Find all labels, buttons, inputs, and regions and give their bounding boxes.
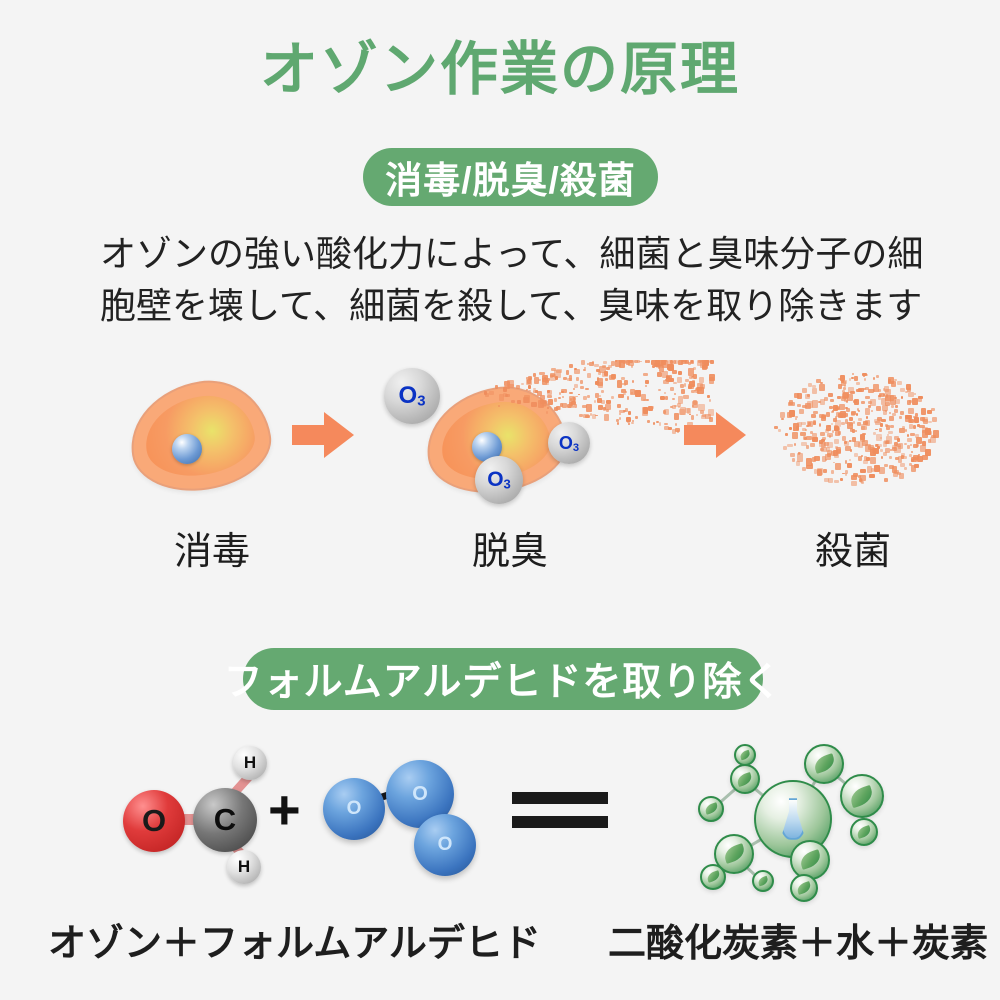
stage-sterilize: 殺菌 — [765, 360, 965, 570]
leaf-icon — [812, 754, 837, 775]
cluster-bubble-leaf — [850, 818, 878, 846]
cluster-bubble-leaf — [804, 744, 844, 784]
ozone-atom-left: O — [323, 778, 385, 840]
leaf-icon — [796, 881, 812, 895]
green-molecule-cluster-icon — [672, 722, 922, 907]
cluster-bubble-leaf — [752, 870, 774, 892]
leaf-icon — [706, 871, 721, 884]
cluster-bubble-leaf — [698, 796, 724, 822]
flask-icon — [780, 798, 805, 839]
body-line-2: 胞壁を壊して、細菌を殺して、臭味を取り除きます — [100, 280, 940, 332]
caption-reactants: オゾン＋フォルムアルデヒド — [48, 912, 541, 967]
arrow-stem — [292, 425, 328, 445]
leaf-icon — [722, 844, 747, 865]
formaldehyde-molecule-icon: O C H H — [115, 740, 280, 890]
arrow-head — [324, 412, 354, 458]
leaf-icon — [848, 784, 875, 807]
cluster-bubble-leaf — [734, 744, 756, 766]
plus-sign: + — [268, 782, 301, 838]
ozone-token-2: O3 — [475, 456, 523, 504]
leaf-icon — [704, 803, 719, 816]
atom-hydrogen-upper: H — [233, 746, 267, 780]
stage-label-sterilize: 殺菌 — [783, 520, 923, 575]
badge-1-label: 消毒/脱臭/殺菌 — [385, 150, 636, 204]
arrow-stem — [684, 425, 720, 445]
equals-sign — [512, 792, 608, 828]
badge-remove-formaldehyde: フォルムアルデヒドを取り除く — [243, 648, 763, 710]
stage-disinfect: 消毒 — [120, 360, 320, 570]
ozone-token-3-text: O3 — [559, 433, 579, 454]
caption-products: 二酸化炭素＋水＋炭素 — [608, 912, 988, 967]
page-title: オゾン作業の原理 — [0, 22, 1000, 106]
leaf-icon — [739, 750, 751, 760]
atom-carbon: C — [193, 788, 257, 852]
ozone-token-2-text: O3 — [487, 468, 511, 492]
leaf-icon — [798, 850, 823, 871]
leaf-icon — [757, 876, 769, 886]
equals-bar-bottom — [512, 816, 608, 828]
atom-oxygen: O — [123, 790, 185, 852]
badge-disinfect-deodorize-sterilize: 消毒/脱臭/殺菌 — [363, 148, 658, 206]
process-row: 消毒 O3 O3 O3 脱 — [0, 360, 1000, 570]
cluster-bubble-leaf — [790, 840, 830, 880]
cluster-bubble-leaf — [790, 874, 818, 902]
stage-deodorize: O3 O3 O3 脱臭 — [380, 360, 700, 570]
scattered-particles-icon — [773, 372, 938, 482]
chemistry-equation-row: O C H H + O O O — [0, 730, 1000, 910]
stage-label-disinfect: 消毒 — [142, 520, 282, 575]
body-line-1: オゾンの強い酸化力によって、細菌と臭味分子の細 — [100, 228, 940, 280]
arrow-head — [716, 412, 746, 458]
ozone-molecule-icon: O O O — [318, 752, 488, 882]
ozone-token-3: O3 — [548, 422, 590, 464]
equals-bar-top — [512, 792, 608, 804]
body-paragraph: オゾンの強い酸化力によって、細菌と臭味分子の細 胞壁を壊して、細菌を殺して、臭味… — [100, 228, 940, 332]
ozone-token-1: O3 — [384, 368, 440, 424]
stage-label-deodorize: 脱臭 — [440, 520, 580, 575]
ozone-token-1-text: O3 — [399, 382, 426, 410]
atom-hydrogen-lower: H — [227, 850, 261, 884]
leaf-icon — [856, 825, 872, 839]
cluster-bubble-leaf — [840, 774, 884, 818]
cluster-bubble-leaf — [700, 864, 726, 890]
intact-cell-icon — [130, 382, 270, 490]
infographic-page: オゾン作業の原理 消毒/脱臭/殺菌 オゾンの強い酸化力によって、細菌と臭味分子の… — [0, 0, 1000, 1000]
cell-nucleus — [172, 434, 202, 464]
right-arrow-icon-2 — [684, 412, 746, 458]
right-arrow-icon — [292, 412, 354, 458]
badge-2-label: フォルムアルデヒドを取り除く — [224, 651, 783, 707]
leaf-icon — [736, 771, 754, 786]
ozone-atom-right: O — [414, 814, 476, 876]
cluster-bubble-leaf — [730, 764, 760, 794]
